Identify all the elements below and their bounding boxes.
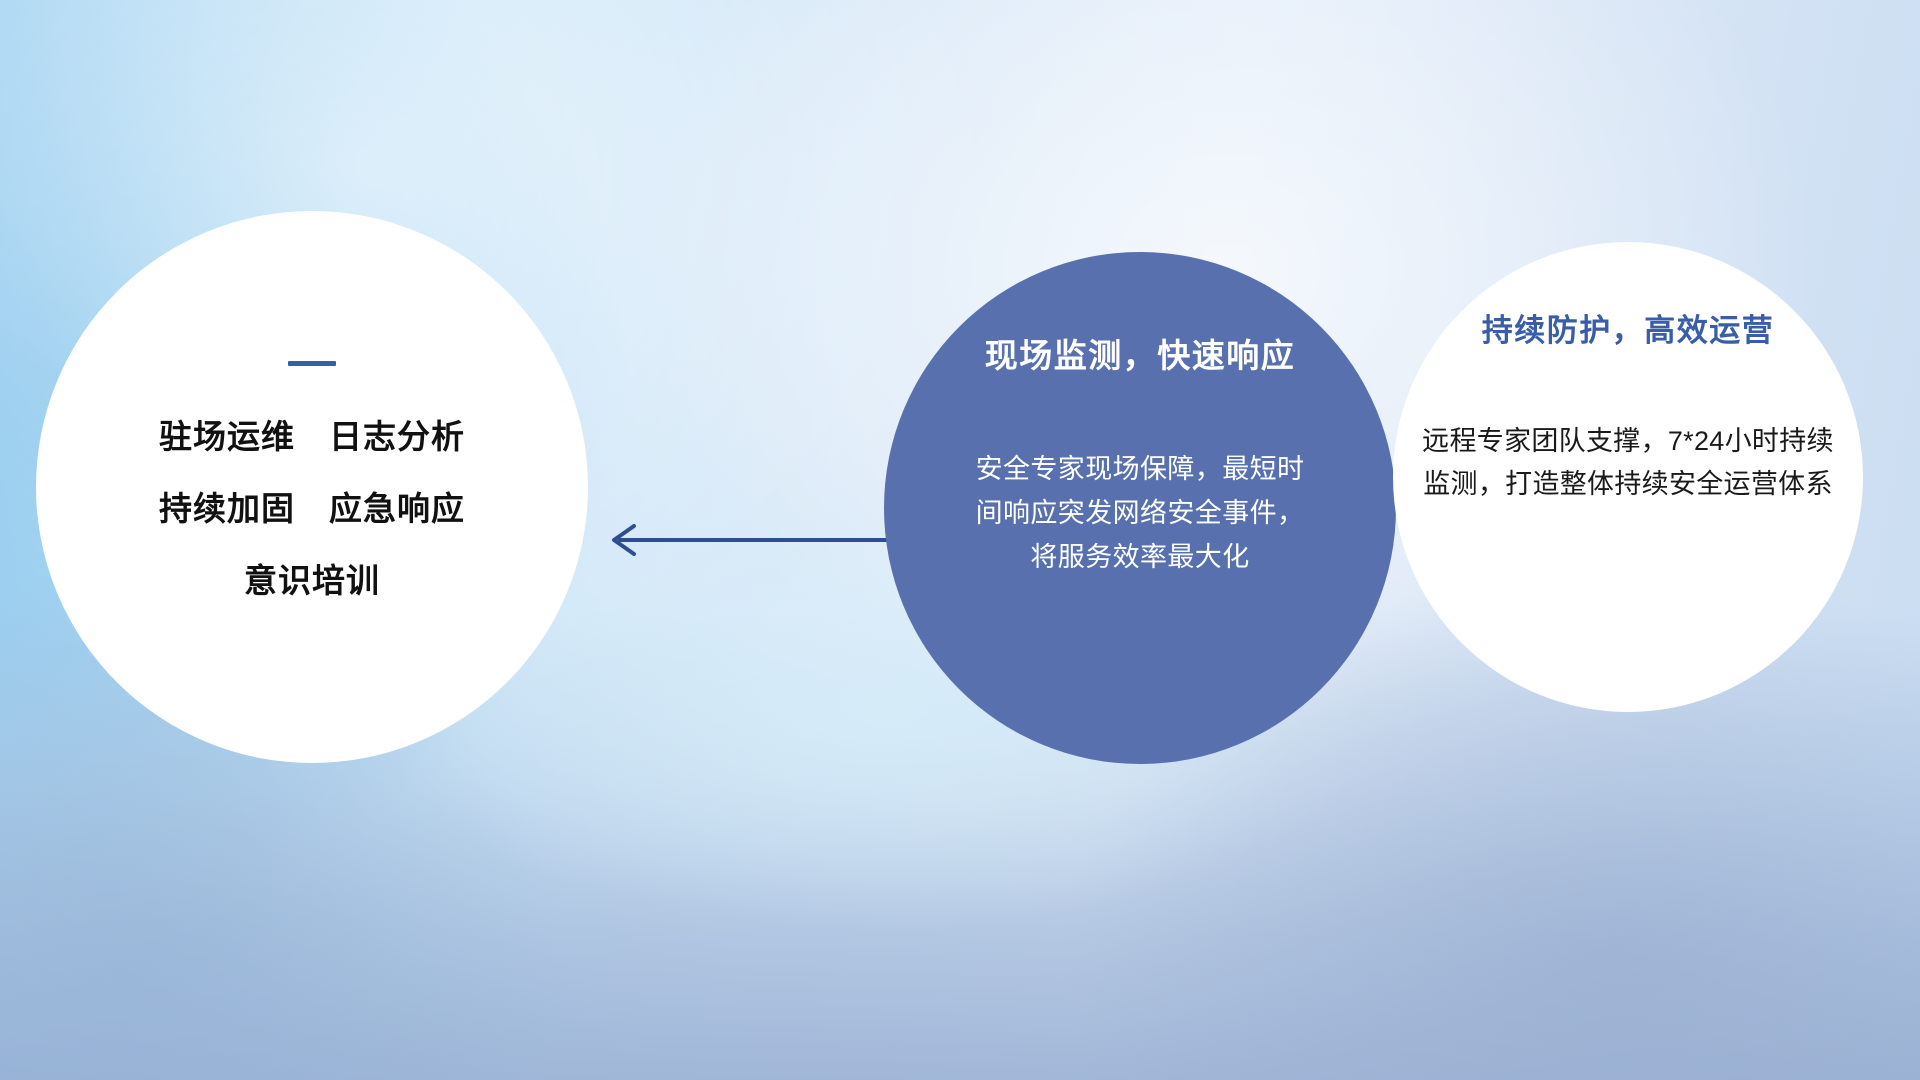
arrow-left-icon xyxy=(600,520,890,560)
onsite-monitoring-circle[interactable]: 现场监测，快速响应 安全专家现场保障，最短时间响应突发网络安全事件，将服务效率最… xyxy=(884,252,1396,764)
onsite-monitoring-title: 现场监测，快速响应 xyxy=(985,338,1296,374)
onsite-monitoring-body: 安全专家现场保障，最短时间响应突发网络安全事件，将服务效率最大化 xyxy=(975,448,1305,579)
horizontal-dash-icon xyxy=(288,361,336,366)
capability-line-3: 意识培训 xyxy=(244,564,380,597)
continuous-protection-body: 远程专家团队支撑，7*24小时持续监测，打造整体持续安全运营体系 xyxy=(1418,420,1838,505)
continuous-protection-title: 持续防护，高效运营 xyxy=(1482,314,1775,348)
capability-line-1: 驻场运维 日志分析 xyxy=(159,420,465,453)
capability-line-2: 持续加固 应急响应 xyxy=(159,492,465,525)
capabilities-circle[interactable]: 驻场运维 日志分析 持续加固 应急响应 意识培训 xyxy=(36,211,588,763)
continuous-protection-circle[interactable]: 持续防护，高效运营 远程专家团队支撑，7*24小时持续监测，打造整体持续安全运营… xyxy=(1393,242,1863,712)
